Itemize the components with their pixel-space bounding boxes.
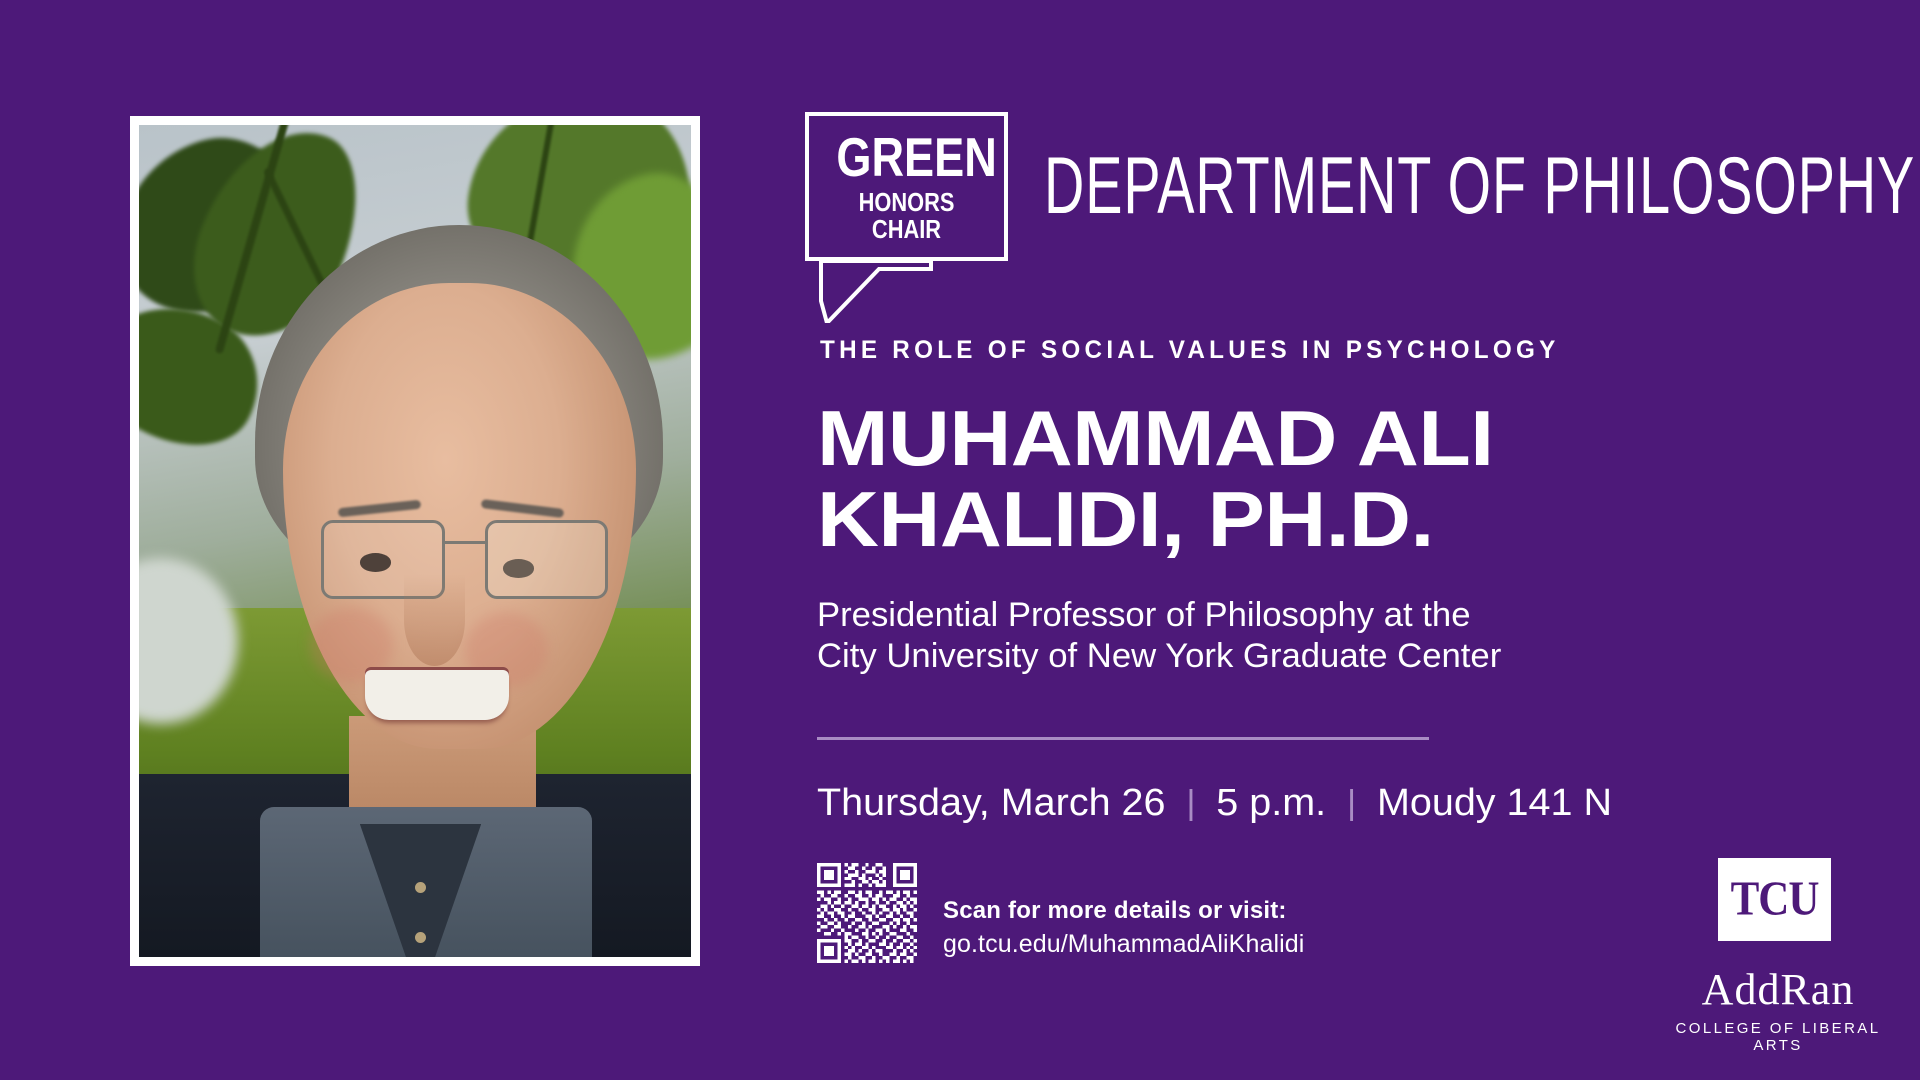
speech-bubble-tail-icon [819, 261, 939, 323]
qr-code-icon[interactable] [817, 863, 917, 963]
shirt-button [415, 932, 426, 943]
addran-tagline: COLLEGE OF LIBERAL ARTS [1654, 1020, 1902, 1054]
qr-url[interactable]: go.tcu.edu/MuhammadAliKhalidi [943, 930, 1304, 959]
divider-rule [817, 737, 1429, 740]
speaker-portrait-image [139, 125, 691, 957]
talk-title-eyebrow: THE ROLE OF SOCIAL VALUES IN PSYCHOLOGY [820, 336, 1560, 365]
event-time: 5 p.m. [1216, 782, 1326, 825]
event-details: Thursday, March 26 | 5 p.m. | Moudy 141 … [817, 782, 1612, 825]
qr-text-block: Scan for more details or visit: go.tcu.e… [943, 897, 1304, 963]
qr-section: Scan for more details or visit: go.tcu.e… [817, 863, 1304, 963]
event-separator: | [1186, 784, 1195, 823]
smile [365, 670, 509, 720]
affiliation-line1: Presidential Professor of Philosophy at … [817, 595, 1501, 636]
badge-line-green: GREEN [836, 132, 976, 183]
speaker-name: MUHAMMAD ALI KHALIDI, PH.D. [817, 398, 1494, 560]
qr-call-to-action: Scan for more details or visit: [943, 897, 1304, 925]
speaker-name-line2: KHALIDI, PH.D. [817, 479, 1494, 560]
glasses-bridge [445, 541, 485, 544]
nose [404, 574, 465, 666]
event-date: Thursday, March 26 [817, 782, 1166, 825]
header-row: GREEN HONORS CHAIR DEPARTMENT OF PHILOSO… [805, 112, 1920, 261]
event-separator: | [1347, 784, 1356, 823]
addran-wordmark: AddRan [1654, 968, 1902, 1012]
addran-logo: AddRan COLLEGE OF LIBERAL ARTS [1654, 968, 1902, 1054]
badge-box: GREEN HONORS CHAIR [805, 112, 1008, 261]
speaker-photo-frame [130, 116, 700, 966]
tcu-logo: TCU [1718, 858, 1831, 941]
speaker-name-line1: MUHAMMAD ALI [817, 398, 1494, 479]
department-title: DEPARTMENT OF PHILOSOPHY [1044, 140, 1915, 232]
eyeglasses-icon [321, 520, 608, 599]
badge-line-honors-chair: HONORS CHAIR [835, 189, 979, 244]
speaker-affiliation: Presidential Professor of Philosophy at … [817, 595, 1501, 678]
event-location: Moudy 141 N [1377, 782, 1612, 825]
lens-right [485, 520, 608, 599]
tcu-logo-text: TCU [1731, 872, 1819, 927]
green-honors-chair-badge: GREEN HONORS CHAIR [805, 112, 1008, 261]
affiliation-line2: City University of New York Graduate Cen… [817, 636, 1501, 677]
